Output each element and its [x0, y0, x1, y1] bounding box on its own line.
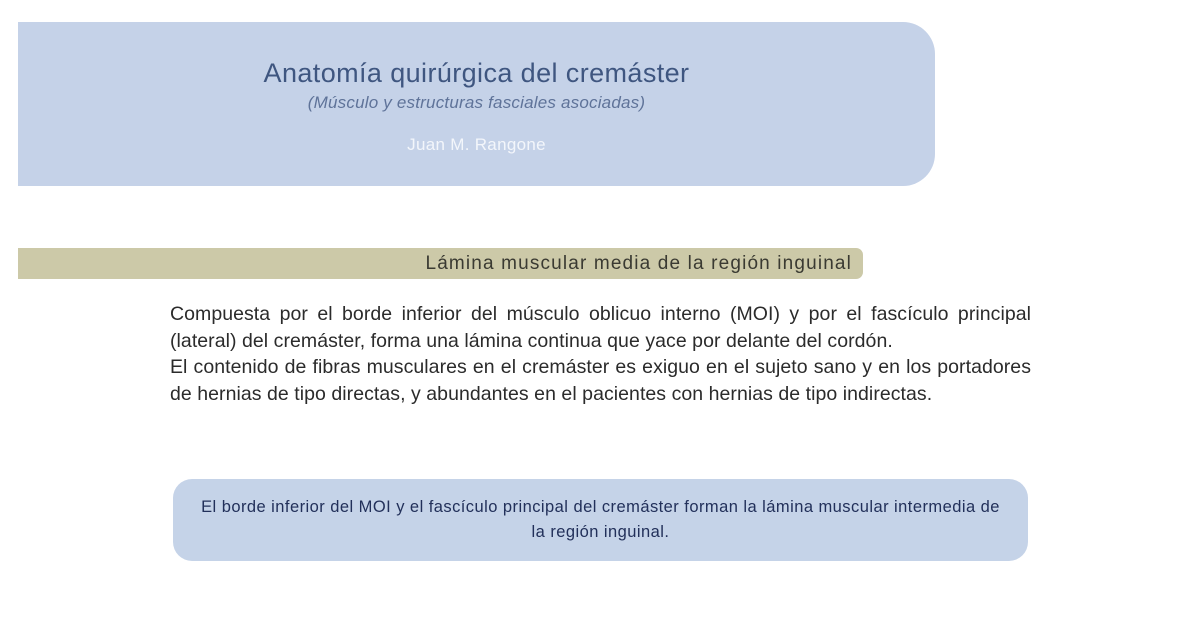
callout-text: El borde inferior del MOI y el fascículo… — [201, 495, 1000, 545]
body-text-block: Compuesta por el borde inferior del músc… — [170, 301, 1031, 407]
section-heading-bar: Lámina muscular media de la región ingui… — [18, 248, 863, 279]
page-title: Anatomía quirúrgica del cremáster — [18, 58, 935, 89]
slide-page: { "slide": { "background_color": "#fffff… — [0, 0, 1200, 630]
page-subtitle: (Músculo y estructuras fasciales asociad… — [18, 93, 935, 113]
body-paragraph: El contenido de fibras musculares en el … — [170, 354, 1031, 407]
body-paragraph: Compuesta por el borde inferior del músc… — [170, 301, 1031, 354]
section-heading-label: Lámina muscular media de la región ingui… — [426, 253, 853, 275]
author-name: Juan M. Rangone — [18, 135, 935, 155]
callout-box: El borde inferior del MOI y el fascículo… — [173, 479, 1028, 561]
title-banner: Anatomía quirúrgica del cremáster (Múscu… — [18, 22, 935, 186]
